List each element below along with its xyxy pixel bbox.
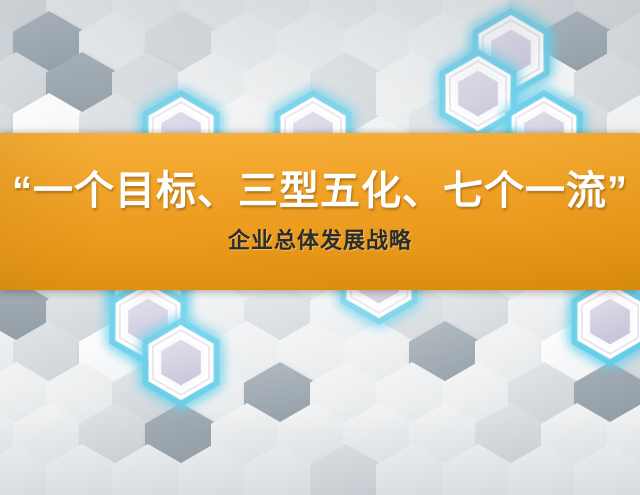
slide-subtitle: 企业总体发展战略 — [228, 229, 412, 253]
slide-title: “一个目标、三型五化、七个一流” — [12, 169, 628, 213]
presentation-slide: “一个目标、三型五化、七个一流” 企业总体发展战略 — [0, 0, 640, 495]
title-banner: “一个目标、三型五化、七个一流” 企业总体发展战略 — [0, 133, 640, 290]
